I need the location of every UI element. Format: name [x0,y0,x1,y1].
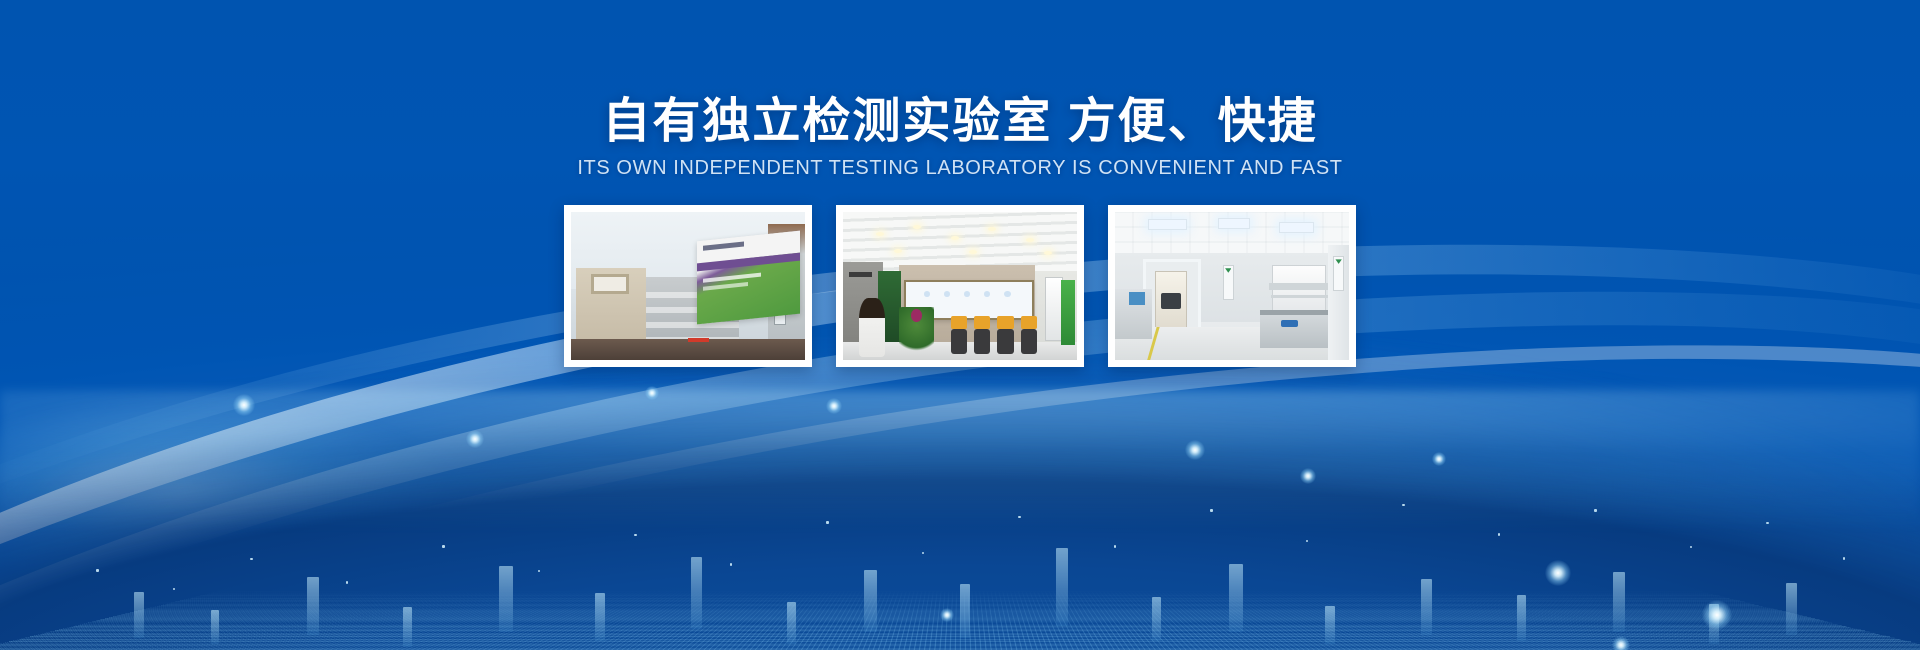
banner-subheadline: ITS OWN INDEPENDENT TESTING LABORATORY I… [0,157,1920,180]
photo-laboratory-building-exterior [571,212,805,360]
banner-content: 自有独立检测实验室 方便、快捷 ITS OWN INDEPENDENT TEST… [0,0,1920,650]
photo-gallery [564,205,1356,367]
laboratory-hero-banner: 自有独立检测实验室 方便、快捷 ITS OWN INDEPENDENT TEST… [0,0,1920,650]
photo-frame-building-exterior[interactable] [564,205,812,367]
photo-reception-lobby-interior [843,212,1077,360]
photo-frame-reception-lobby[interactable] [836,205,1084,367]
photo-testing-laboratory-interior [1115,212,1349,360]
photo-frame-testing-laboratory[interactable] [1108,205,1356,367]
banner-headline: 自有独立检测实验室 方便、快捷 [0,96,1920,149]
